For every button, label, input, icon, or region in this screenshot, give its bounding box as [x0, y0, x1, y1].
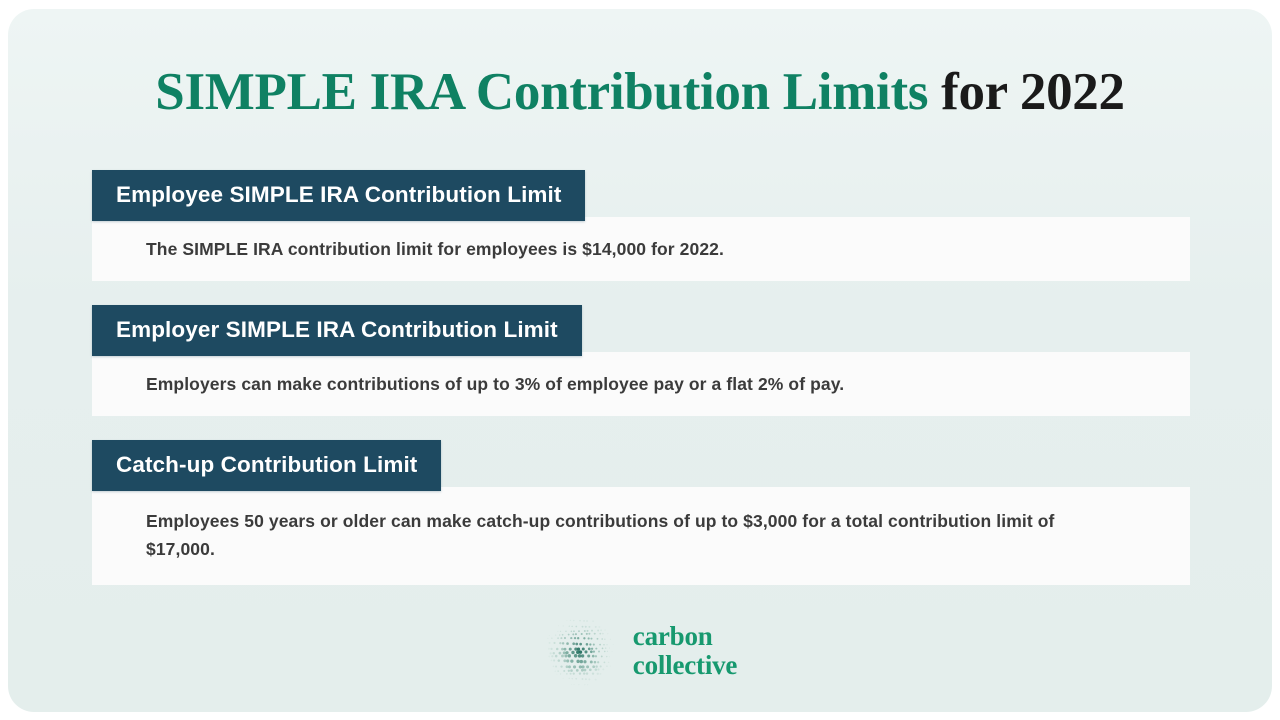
card-header-employee-limit: Employee SIMPLE IRA Contribution Limit — [92, 170, 585, 221]
page-title-highlight: SIMPLE IRA Contribution Limits — [155, 63, 928, 121]
card-list: Employee SIMPLE IRA Contribution Limit T… — [92, 170, 1190, 609]
brand-logo-wordmark: carbon collective — [633, 622, 737, 680]
card-body-catchup-limit: Employees 50 years or older can make cat… — [92, 487, 1190, 586]
page-title: SIMPLE IRA Contribution Limits for 2022 — [0, 62, 1280, 122]
card-body-employee-limit: The SIMPLE IRA contribution limit for em… — [92, 217, 1190, 281]
page-title-suffix: for 2022 — [928, 63, 1125, 121]
brand-logo: carbon collective — [0, 614, 1280, 688]
carbon-collective-dot-circle-icon — [543, 614, 617, 688]
card-header-catchup-limit: Catch-up Contribution Limit — [92, 440, 441, 491]
card-text-employee-limit: The SIMPLE IRA contribution limit for em… — [146, 235, 724, 263]
card-text-employer-limit: Employers can make contributions of up t… — [146, 370, 844, 398]
card-text-catchup-limit: Employees 50 years or older can make cat… — [146, 507, 1096, 564]
brand-logo-line2: collective — [633, 651, 737, 680]
card-header-employer-limit: Employer SIMPLE IRA Contribution Limit — [92, 305, 582, 356]
brand-logo-line1: carbon — [633, 622, 737, 651]
card-employee-limit: Employee SIMPLE IRA Contribution Limit T… — [92, 170, 1190, 281]
card-employer-limit: Employer SIMPLE IRA Contribution Limit E… — [92, 305, 1190, 416]
infographic-root: SIMPLE IRA Contribution Limits for 2022 … — [0, 0, 1280, 720]
card-catchup-limit: Catch-up Contribution Limit Employees 50… — [92, 440, 1190, 585]
card-body-employer-limit: Employers can make contributions of up t… — [92, 352, 1190, 416]
